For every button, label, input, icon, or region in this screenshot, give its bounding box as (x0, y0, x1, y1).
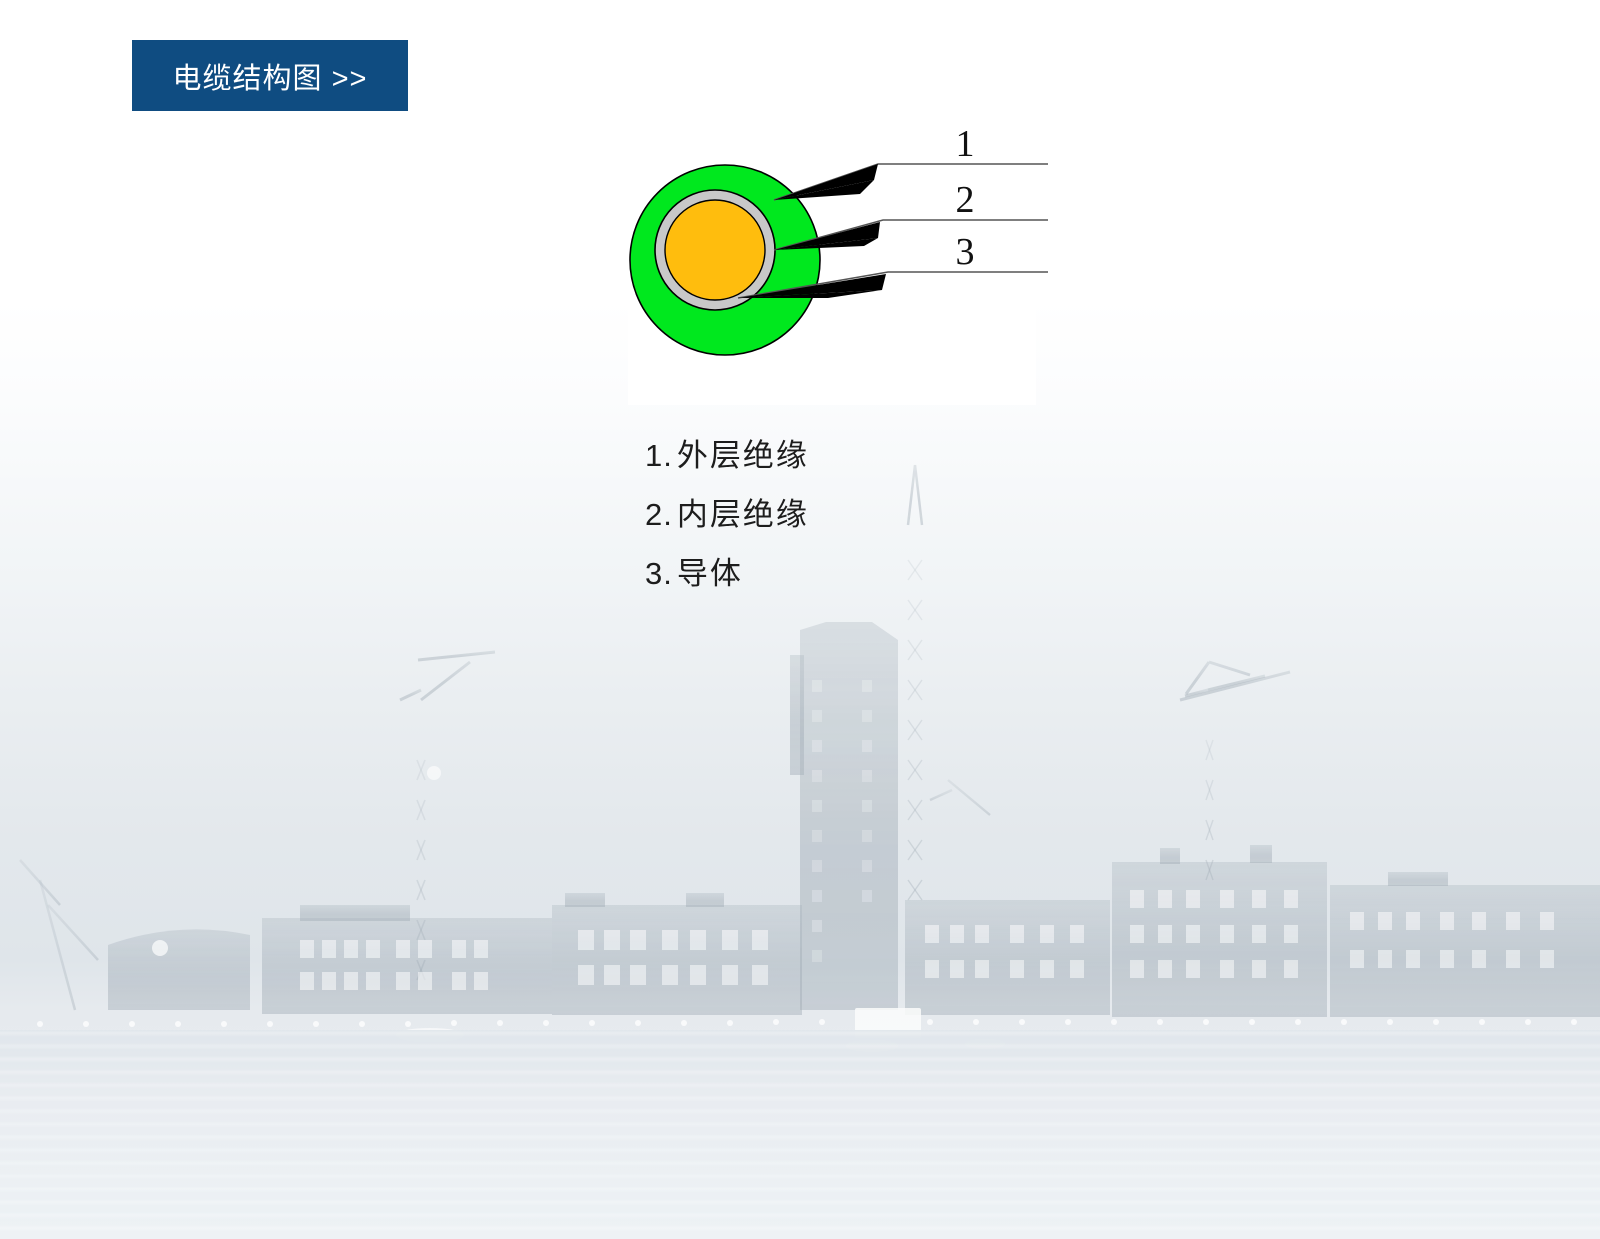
legend-number-2: 2. (645, 497, 673, 532)
legend-label-2: 内层绝缘 (677, 497, 809, 532)
legend-label-1: 外层绝缘 (677, 438, 809, 473)
callout-number-2: 2 (956, 179, 975, 221)
cable-cross-section-diagram: 1 2 3 (628, 112, 1048, 412)
legend-item-inner-insulation: 2.内层绝缘 (645, 499, 809, 530)
callout-number-3: 3 (956, 231, 975, 273)
callout-leader-1 (774, 164, 1048, 200)
legend-label-3: 导体 (677, 556, 743, 591)
legend-item-outer-insulation: 1.外层绝缘 (645, 440, 809, 471)
background-water (0, 1030, 1600, 1239)
banner-title: 电缆结构图 >> (173, 55, 368, 97)
legend-number-1: 1. (645, 438, 673, 473)
legend-item-conductor: 3.导体 (645, 558, 809, 589)
conductor-layer (665, 200, 765, 300)
cable-structure-banner[interactable]: 电缆结构图 >> (132, 40, 408, 111)
page-root: 电缆结构图 >> 1 2 3 (0, 0, 1600, 1239)
legend-number-3: 3. (645, 556, 673, 591)
layer-legend: 1.外层绝缘 2.内层绝缘 3.导体 (645, 440, 809, 589)
callout-number-1: 1 (956, 123, 975, 165)
